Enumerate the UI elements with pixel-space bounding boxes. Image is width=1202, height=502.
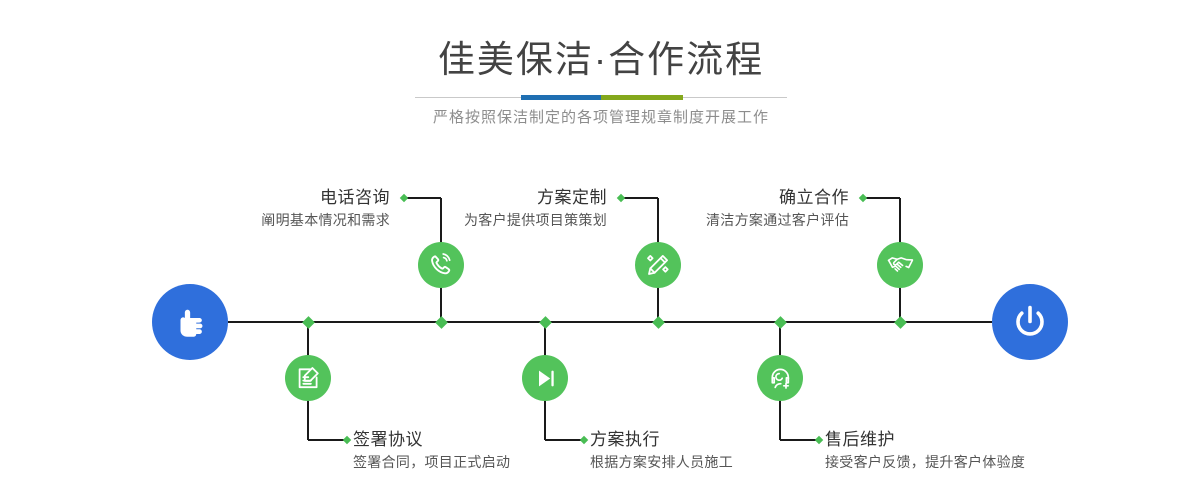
process-flow-diagram: 电话咨询 阐明基本情况和需求 方案定制 为客户提供项目策策划 xyxy=(0,0,1202,502)
play-skip-icon xyxy=(532,365,559,392)
flow-start-node[interactable] xyxy=(152,284,228,360)
step-label-after-sales: 售后维护 接受客户反馈，提升客户体验度 xyxy=(825,429,1025,473)
step-icon-plan-execute[interactable] xyxy=(522,355,568,401)
step-desc-after-sales: 接受客户反馈，提升客户体验度 xyxy=(825,451,1025,473)
phone-call-icon xyxy=(427,251,455,279)
flow-chart-page: 佳美保洁·合作流程 严格按照保洁制定的各项管理规章制度开展工作 xyxy=(0,0,1202,502)
step-desc-plan-custom: 为客户提供项目策策划 xyxy=(464,209,607,231)
step-title-establish-coop: 确立合作 xyxy=(706,187,849,209)
headset-support-icon xyxy=(767,365,794,392)
step-label-sign-agreement: 签署协议 签署合同，项目正式启动 xyxy=(353,429,510,473)
step-icon-establish-coop[interactable] xyxy=(877,242,923,288)
step-icon-after-sales[interactable] xyxy=(757,355,803,401)
handshake-icon xyxy=(886,251,915,280)
step-title-phone-consult: 电话咨询 xyxy=(261,187,390,209)
hand-point-right-icon xyxy=(168,300,212,344)
step-icon-phone-consult[interactable] xyxy=(418,242,464,288)
step-title-plan-custom: 方案定制 xyxy=(464,187,607,209)
flow-end-node[interactable] xyxy=(992,284,1068,360)
step-label-plan-execute: 方案执行 根据方案安排人员施工 xyxy=(590,429,733,473)
document-edit-icon xyxy=(295,365,322,392)
power-icon xyxy=(1009,301,1051,343)
step-title-sign-agreement: 签署协议 xyxy=(353,429,510,451)
step-label-phone-consult: 电话咨询 阐明基本情况和需求 xyxy=(261,187,390,231)
step-label-establish-coop: 确立合作 清洁方案通过客户评估 xyxy=(706,187,849,231)
step-label-plan-custom: 方案定制 为客户提供项目策策划 xyxy=(464,187,607,231)
step-icon-sign-agreement[interactable] xyxy=(285,355,331,401)
step-title-after-sales: 售后维护 xyxy=(825,429,1025,451)
step-desc-plan-execute: 根据方案安排人员施工 xyxy=(590,451,733,473)
step-desc-phone-consult: 阐明基本情况和需求 xyxy=(261,209,390,231)
pencil-edit-icon xyxy=(644,251,672,279)
connector-lines xyxy=(0,0,1202,502)
step-desc-sign-agreement: 签署合同，项目正式启动 xyxy=(353,451,510,473)
step-desc-establish-coop: 清洁方案通过客户评估 xyxy=(706,209,849,231)
step-icon-plan-custom[interactable] xyxy=(635,242,681,288)
step-title-plan-execute: 方案执行 xyxy=(590,429,733,451)
